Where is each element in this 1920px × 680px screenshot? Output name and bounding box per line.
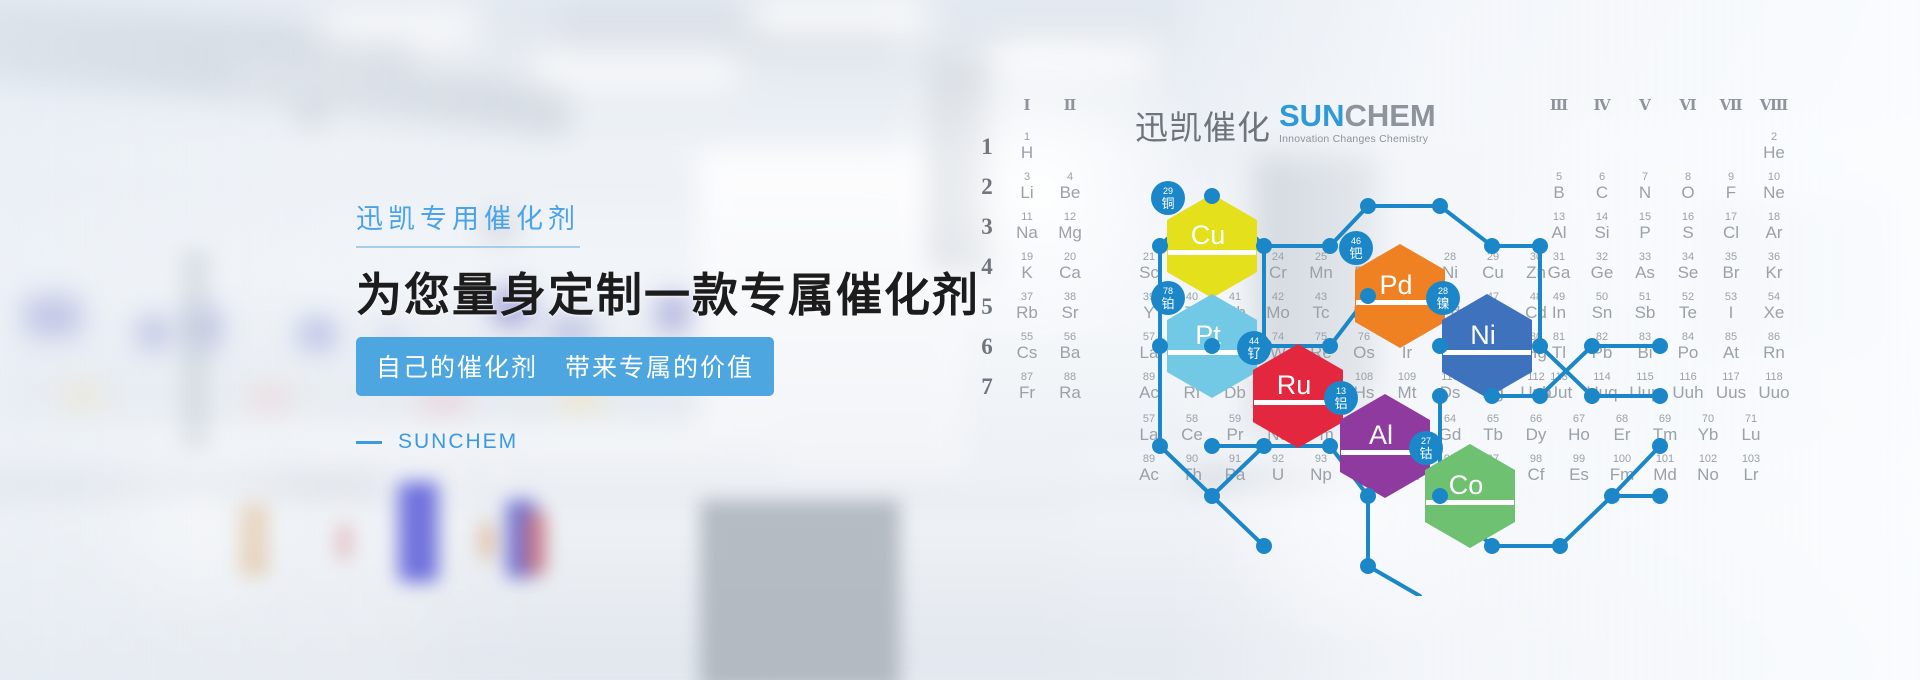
molecule-node xyxy=(1532,388,1548,404)
molecule-bond xyxy=(1212,446,1264,496)
element-symbol: Ne xyxy=(1755,183,1793,202)
logo-tagline: Innovation Changes Chemistry xyxy=(1279,134,1436,145)
element-number: 10 xyxy=(1755,172,1793,183)
molecule-node xyxy=(1552,538,1568,554)
molecule-svg: CuPtRuPdNiAlCo 29铜78铂44钌46钯28镍13铝27钴 xyxy=(1000,96,1760,596)
element-cell: 36Kr xyxy=(1755,252,1793,282)
molecule-node xyxy=(1532,338,1548,354)
logo-chinese-name: 迅凯催化 xyxy=(1135,111,1271,145)
element-cell: 10Ne xyxy=(1755,172,1793,202)
element-badge-chinese: 钯 xyxy=(1349,246,1362,261)
hexagon-symbol: Ni xyxy=(1470,320,1496,350)
element-symbol: Xe xyxy=(1755,303,1793,322)
molecule-node xyxy=(1652,388,1668,404)
element-badge-chinese: 钌 xyxy=(1247,346,1260,361)
element-cell: 18Ar xyxy=(1755,212,1793,242)
molecule-node xyxy=(1652,488,1668,504)
molecule-bond xyxy=(1212,496,1264,546)
molecule-node xyxy=(1322,338,1338,354)
molecule-bond xyxy=(1560,496,1612,546)
molecule-bond xyxy=(1368,566,1420,596)
molecule-node xyxy=(1432,198,1448,214)
molecule-node xyxy=(1204,488,1220,504)
molecule-node xyxy=(1584,338,1600,354)
hexagon-symbol: Pd xyxy=(1379,270,1412,300)
element-badge-chinese: 铜 xyxy=(1161,196,1174,211)
hero-signature: SUNCHEM xyxy=(356,430,996,454)
element-number: 54 xyxy=(1755,292,1793,303)
molecule-node xyxy=(1204,438,1220,454)
logo-word-chem: CHEM xyxy=(1344,98,1435,133)
element-badge-number: 44 xyxy=(1249,336,1259,346)
element-number: 2 xyxy=(1755,132,1793,143)
element-badge-chinese: 钴 xyxy=(1419,446,1432,461)
element-number: 118 xyxy=(1755,372,1793,383)
molecule-node xyxy=(1256,438,1272,454)
element-badge-number: 27 xyxy=(1421,436,1431,446)
molecule-node xyxy=(1360,288,1376,304)
molecule-node xyxy=(1204,338,1220,354)
hero-banner: ⅠⅡⅢⅣⅤⅥⅦⅧ12345671H3Li4Be11Na12Mg19K20Ca37… xyxy=(0,0,1920,680)
molecule-node xyxy=(1484,238,1500,254)
element-number: 86 xyxy=(1755,332,1793,343)
logo-wordmark: SUNCHEM Innovation Changes Chemistry xyxy=(1279,100,1436,145)
molecule-bond xyxy=(1160,446,1212,496)
sunchem-logo[interactable]: 迅凯催化 SUNCHEM Innovation Changes Chemistr… xyxy=(1135,100,1436,145)
molecule-node xyxy=(1432,388,1448,404)
hexagon-symbol: Co xyxy=(1449,470,1484,500)
hexagon-symbol: Al xyxy=(1369,420,1393,450)
element-cell: 54Xe xyxy=(1755,292,1793,322)
element-cell: 86Rn xyxy=(1755,332,1793,362)
molecule-bond xyxy=(1612,446,1660,496)
molecule-node xyxy=(1322,438,1338,454)
molecule-node xyxy=(1256,538,1272,554)
molecule-node xyxy=(1322,238,1338,254)
molecule-node xyxy=(1532,238,1548,254)
element-cell: 2He xyxy=(1755,132,1793,162)
molecule-node xyxy=(1152,338,1168,354)
element-badge-number: 28 xyxy=(1438,286,1448,296)
molecule-node xyxy=(1484,388,1500,404)
molecule-node xyxy=(1652,438,1668,454)
hero-ribbon-tagline: 自己的催化剂 带来专属的价值 xyxy=(356,337,774,396)
molecule-node xyxy=(1584,388,1600,404)
molecule-hexagon-diagram: CuPtRuPdNiAlCo 29铜78铂44钌46钯28镍13铝27钴 xyxy=(1000,96,1760,596)
hero-headline: 为您量身定制一款专属催化剂 xyxy=(356,268,996,322)
element-symbol: He xyxy=(1755,143,1793,162)
hero-signature-text: SUNCHEM xyxy=(398,430,518,454)
element-number: 18 xyxy=(1755,212,1793,223)
hero-copy-block: 迅凯专用催化剂 为您量身定制一款专属催化剂 自己的催化剂 带来专属的价值 SUN… xyxy=(356,206,996,454)
period-label: 1 xyxy=(978,134,996,160)
element-badge-number: 46 xyxy=(1351,236,1361,246)
element-badge-number: 29 xyxy=(1163,186,1173,196)
element-badge-chinese: 铂 xyxy=(1161,296,1174,311)
element-symbol: Rn xyxy=(1755,343,1793,362)
element-badge-chinese: 铝 xyxy=(1334,396,1347,411)
molecule-node xyxy=(1152,238,1168,254)
element-badge-number: 78 xyxy=(1163,286,1173,296)
element-cell: 118Uuo xyxy=(1755,372,1793,402)
logo-word-row: SUNCHEM xyxy=(1279,100,1436,131)
molecule-node xyxy=(1360,558,1376,574)
element-number: 36 xyxy=(1755,252,1793,263)
molecule-node xyxy=(1652,338,1668,354)
molecule-node xyxy=(1256,238,1272,254)
molecule-node xyxy=(1360,488,1376,504)
molecule-node xyxy=(1204,188,1220,204)
molecule-node xyxy=(1360,198,1376,214)
group-header: Ⅷ xyxy=(1755,96,1793,115)
period-label: 2 xyxy=(978,174,996,200)
hero-eyebrow: 迅凯专用催化剂 xyxy=(356,206,580,248)
dash-icon xyxy=(356,441,382,444)
element-symbol: Kr xyxy=(1755,263,1793,282)
molecule-bond xyxy=(1440,206,1492,246)
hexagon-symbol: Ru xyxy=(1277,370,1312,400)
molecule-node xyxy=(1484,538,1500,554)
molecule-node xyxy=(1152,438,1168,454)
hexagon-divider xyxy=(1443,350,1531,355)
hexagon-symbol: Cu xyxy=(1191,220,1226,250)
molecule-node xyxy=(1432,488,1448,504)
element-badge-number: 13 xyxy=(1336,386,1346,396)
element-badge-chinese: 镍 xyxy=(1436,296,1449,311)
molecule-node xyxy=(1604,488,1620,504)
hexagon-divider xyxy=(1168,250,1256,255)
logo-word-sun: SUN xyxy=(1279,98,1344,133)
molecule-node xyxy=(1432,338,1448,354)
element-symbol: Ar xyxy=(1755,223,1793,242)
element-symbol: Uuo xyxy=(1755,383,1793,402)
